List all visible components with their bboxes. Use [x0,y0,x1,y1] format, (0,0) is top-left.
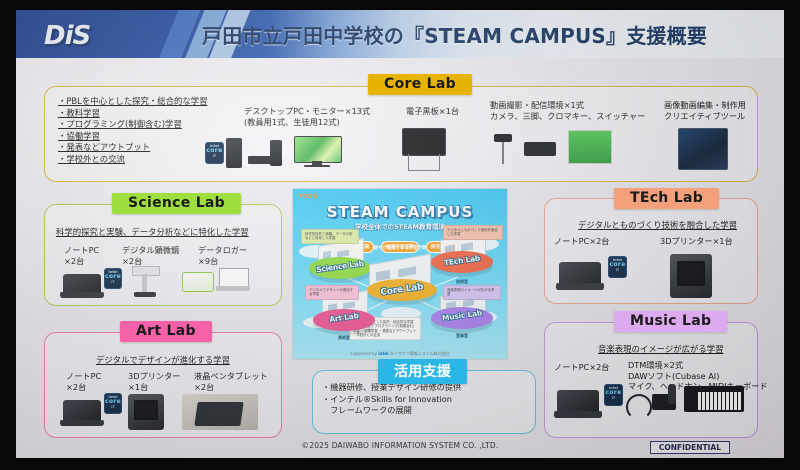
core-item-caption: 画像動画編集・制作用 クリエイティブツール [664,100,746,121]
mini-pc-icon [270,140,282,166]
intel-logo: intel [378,351,388,356]
core-bullet: ・学校外との交流 [58,154,207,166]
science-item-caption: デジタル顕微鏡 ×2台 [122,245,179,266]
core-lab-badge: Core Lab [368,74,472,95]
copyright-text: ©2025 DAIWABO INFORMATION SYSTEM CO. ,LT… [302,441,499,450]
monitor-icon [294,136,340,168]
poster-note: デジタルでデザインが進化する学習 [305,285,359,300]
laptop-icon [554,388,602,418]
intel-core-badge-icon: intelcorei7 [104,268,122,289]
science-item-caption: データロガー ×9台 [198,245,247,266]
headphones-icon [626,394,652,420]
microphone-icon [668,384,676,404]
tripod-icon [498,142,508,164]
core-lab-bullets: ・PBLを中心とした探究・総合的な学習 ・教科学習 ・プログラミング(制御含む)… [58,96,207,166]
microscope-base-icon [134,292,156,297]
core-item-caption: 電子黒板×1台 [406,106,459,117]
science-lab-subtitle: 科学的探究と実験、データ分析などに特化した学習 [56,226,249,238]
tech-lab-subtitle: デジタルとものづくり技術を融合した学習 [578,219,737,231]
tech-item-caption: 3Dプリンター×1台 [660,236,733,247]
video-switcher-icon [524,142,556,156]
confidential-badge: CONFIDENTIAL [650,441,730,454]
art-item-caption: 液晶ペンタブレット ×2台 [194,371,268,392]
music-lab-subtitle: 音楽表現のイメージが広がる学習 [598,343,723,355]
chroma-key-screen-icon [568,130,612,164]
core-bullet: ・発表などアウトプット [58,142,207,154]
dis-logo: DiS [44,21,90,51]
support-badge: 活用支援 [378,359,467,384]
data-logger-icon [182,272,214,292]
science-lab-badge: Science Lab [112,193,241,214]
poster-note: 科学的探究と実験、データ分析などに特化した学習 [301,229,359,244]
poster-brand-logo: YOBA [298,193,318,200]
creative-tool-icon [678,128,728,170]
presentation-slide: DiS 戸田市立戸田中学校の『STEAM CAMPUS』支援概要 Core La… [16,10,784,458]
art-lab-subtitle: デジタルでデザインが進化する学習 [96,354,230,366]
microscope-column-icon [142,274,147,292]
pen-tablet-icon [182,394,258,430]
art-item-caption: 3Dプリンター ×1台 [128,371,180,392]
slide-header: DiS 戸田市立戸田中学校の『STEAM CAMPUS』支援概要 [16,10,784,58]
art-item-caption: ノートPC ×2台 [66,371,101,392]
core-bullet: ・教科学習 [58,108,207,120]
poster-footer: supported by intel ダイワボウ情報システム株式会社 [293,351,507,357]
laptop-graph-icon [216,268,250,294]
music-lab-badge: Music Lab [614,311,727,332]
electronic-blackboard-icon [402,128,446,156]
blackboard-stand-icon [408,154,440,171]
core-bullet: ・プログラミング(制御含む)学習 [58,119,207,131]
core-bullet: ・PBLを中心とした探究・総合的な学習 [58,96,207,108]
poster-title: STEAM CAMPUS [293,203,507,221]
art-lab-badge: Art Lab [120,321,212,342]
desktop-tower-icon [226,138,242,168]
support-line: ・インテル®Skills for Innovation [322,394,461,406]
poster-island-caption: 美術室 [313,335,375,341]
intel-core-badge-icon: intelcorei7 [104,393,122,414]
dis-partner-name: ダイワボウ情報システム株式会社 [390,351,450,356]
poster-island-caption: 音楽室 [431,333,493,339]
laptop-icon [556,260,604,290]
support-line: フレームワークの展開 [322,405,461,417]
science-item-caption: ノートPC ×2台 [64,245,99,266]
tech-item-caption: ノートPC×2台 [554,236,609,247]
3d-printer-icon [670,254,712,298]
3d-printer-icon [128,394,164,430]
laptop-icon [60,398,104,426]
intel-core-badge-icon: intelcorei7 [608,256,627,278]
poster-note: 音楽表現のイメージが広がる学習 [443,285,501,300]
core-item-caption: デスクトップPC・モニター×13式 (教員用1式、生徒用12式) [244,106,370,127]
steam-campus-poster: YOBA STEAM CAMPUS 学校全体でのSTEAM教育環境 教科学習空間… [292,188,508,360]
laptop-icon [60,272,104,298]
support-list: ・機器研修、授業デザイン研修の提供 ・インテル®Skills for Innov… [322,382,461,417]
music-item-caption: ノートPC×2台 [554,362,609,373]
intel-core-badge-icon: intelcorei7 [205,142,224,164]
page-title: 戸田市立戸田中学校の『STEAM CAMPUS』支援概要 [202,20,707,49]
core-bullet: ・協働学習 [58,131,207,143]
core-item-caption: 動画撮影・配信環境×1式 カメラ、三脚、クロマキー、スイッチャー [490,100,645,121]
poster-note: デジタルとものづくり技術を融合した学習 [443,225,503,240]
projection-screen: DiS 戸田市立戸田中学校の『STEAM CAMPUS』支援概要 Core La… [0,0,800,470]
camera-body-icon [494,134,512,142]
poster-supported-by: supported by [350,351,377,356]
midi-keyboard-icon [684,386,744,412]
intel-core-badge-icon: intelcorei7 [604,384,623,406]
tech-lab-badge: TEch Lab [614,188,719,209]
